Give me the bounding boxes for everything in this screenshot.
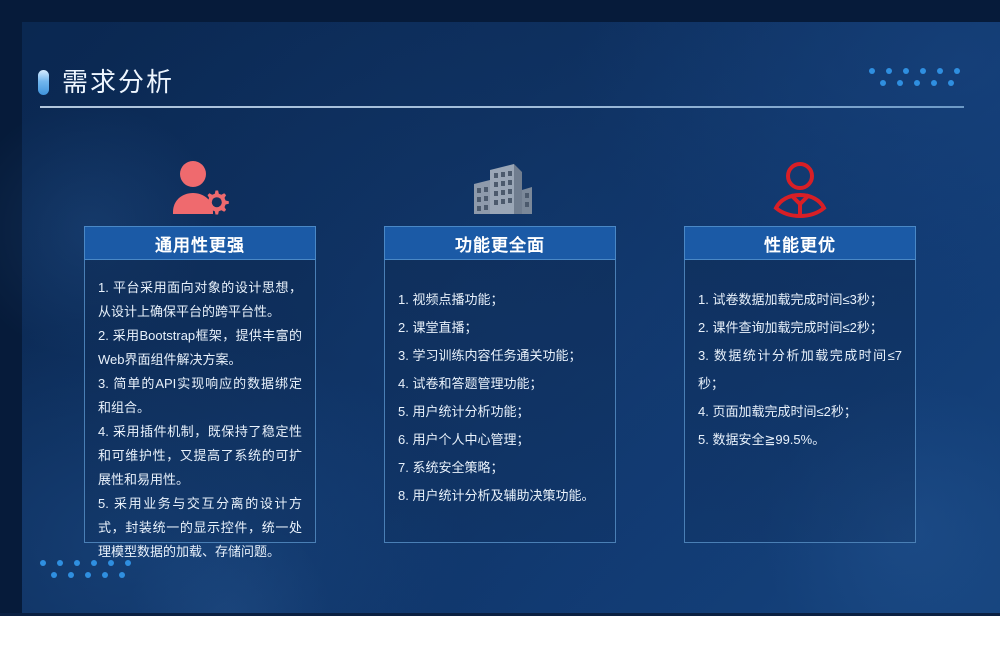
dot <box>85 572 91 578</box>
dot <box>897 80 903 86</box>
dot <box>931 80 937 86</box>
slide-canvas: 需求分析 <box>0 0 1000 616</box>
dot-row <box>880 80 960 86</box>
card-features: 功能更全面 1. 视频点播功能； 2. 课堂直播； 3. 学习训练内容任务通关功… <box>384 148 616 523</box>
dot-row <box>869 68 960 74</box>
dot <box>40 560 46 566</box>
slide-header: 需求分析 <box>38 62 964 110</box>
dot <box>954 68 960 74</box>
dot <box>880 80 886 86</box>
office-buildings-icon <box>384 148 616 218</box>
decorative-dots-top-right <box>869 68 960 86</box>
card-line: 2. 采用Bootstrap框架，提供丰富的Web界面组件解决方案。 <box>98 324 302 372</box>
card-line: 5. 数据安全≧99.5%。 <box>698 426 902 454</box>
card-line: 7. 系统安全策略； <box>398 454 602 482</box>
card-performance: 性能更优 1. 试卷数据加载完成时间≤3秒； 2. 课件查询加载完成时间≤2秒；… <box>684 148 916 523</box>
dot <box>903 68 909 74</box>
dot <box>886 68 892 74</box>
page-bottom-area <box>0 616 1000 667</box>
card-line: 6. 用户个人中心管理； <box>398 426 602 454</box>
dot <box>937 68 943 74</box>
card-line: 4. 试卷和答题管理功能； <box>398 370 602 398</box>
card-line: 1. 视频点播功能； <box>398 286 602 314</box>
dot <box>91 560 97 566</box>
card-line: 5. 采用业务与交互分离的设计方式，封装统一的显示控件，统一处理模型数据的加载、… <box>98 492 302 564</box>
dot <box>102 572 108 578</box>
dot <box>914 80 920 86</box>
card-universality: 通用性更强 1. 平台采用面向对象的设计思想，从设计上确保平台的跨平台性。 2.… <box>84 148 316 523</box>
card-line: 2. 课件查询加载完成时间≤2秒； <box>698 314 902 342</box>
dot <box>869 68 875 74</box>
dot <box>74 560 80 566</box>
dot <box>57 560 63 566</box>
card-line: 4. 页面加载完成时间≤2秒； <box>698 398 902 426</box>
card-line: 3. 数据统计分析加载完成时间≤7秒； <box>698 342 902 398</box>
card-body: 1. 视频点播功能； 2. 课堂直播； 3. 学习训练内容任务通关功能； 4. … <box>384 260 616 543</box>
card-line: 4. 采用插件机制，既保持了稳定性和可维护性，又提高了系统的可扩展性和易用性。 <box>98 420 302 492</box>
card-line: 8. 用户统计分析及辅助决策功能。 <box>398 482 602 510</box>
dot <box>920 68 926 74</box>
dot <box>51 572 57 578</box>
page-title: 需求分析 <box>62 62 174 102</box>
title-bullet-icon <box>38 70 49 95</box>
card-title: 性能更优 <box>684 226 916 260</box>
dot <box>68 572 74 578</box>
card-body: 1. 平台采用面向对象的设计思想，从设计上确保平台的跨平台性。 2. 采用Boo… <box>84 260 316 543</box>
dot <box>119 572 125 578</box>
card-line: 3. 学习训练内容任务通关功能； <box>398 342 602 370</box>
card-line: 1. 平台采用面向对象的设计思想，从设计上确保平台的跨平台性。 <box>98 276 302 324</box>
card-body: 1. 试卷数据加载完成时间≤3秒； 2. 课件查询加载完成时间≤2秒； 3. 数… <box>684 260 916 543</box>
cards-row: 通用性更强 1. 平台采用面向对象的设计思想，从设计上确保平台的跨平台性。 2.… <box>84 148 916 523</box>
card-line: 1. 试卷数据加载完成时间≤3秒； <box>698 286 902 314</box>
card-line: 2. 课堂直播； <box>398 314 602 342</box>
title-divider <box>40 106 964 108</box>
card-line: 5. 用户统计分析功能； <box>398 398 602 426</box>
card-title: 功能更全面 <box>384 226 616 260</box>
business-person-icon <box>684 148 916 218</box>
card-title: 通用性更强 <box>84 226 316 260</box>
card-line: 3. 简单的API实现响应的数据绑定和组合。 <box>98 372 302 420</box>
dot <box>948 80 954 86</box>
dot-row <box>51 572 131 578</box>
user-gear-icon <box>84 148 316 218</box>
